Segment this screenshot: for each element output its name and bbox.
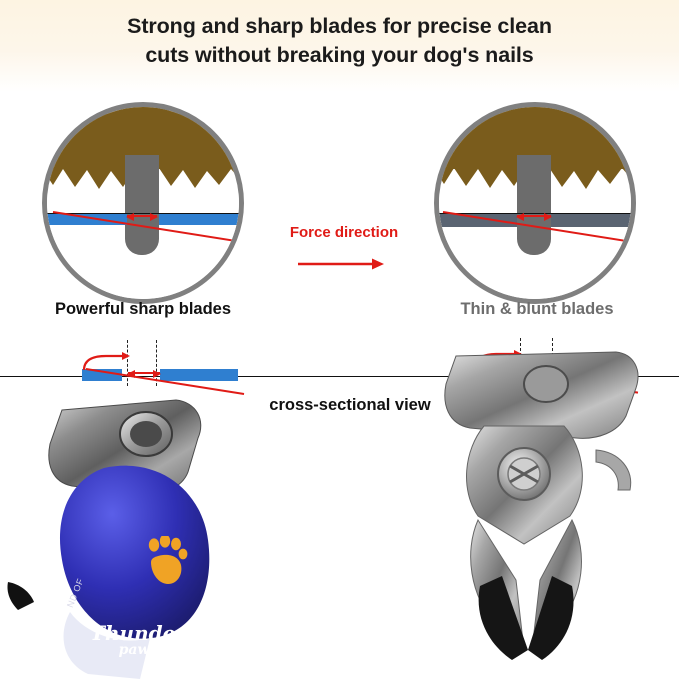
magnifier-left: [42, 102, 244, 304]
caption-left: Powerful sharp blades: [10, 300, 276, 319]
brand-subname: paws: [70, 642, 206, 658]
mid-hook-arrow-left-icon: [82, 352, 130, 372]
nail-quick-left: [125, 155, 159, 255]
blade-blue-left-a: [42, 213, 127, 225]
paw-print-icon: [145, 536, 189, 586]
caption-right: Thin & blunt blades: [404, 300, 670, 319]
mid-gap-arrow-left: [128, 372, 160, 374]
magnifier-right: [434, 102, 636, 304]
page-title-line-2: cuts without breaking your dog's nails: [0, 41, 679, 70]
page-title: Strong and sharp blades for precise clea…: [0, 12, 679, 69]
force-direction-label: Force direction: [264, 224, 424, 241]
blade-blue-left-b: [159, 213, 244, 225]
clipper-right-illustration: [420, 330, 679, 679]
product-infographic: Strong and sharp blades for precise clea…: [0, 0, 679, 679]
product-photo-left: Thunder paws ND OF: [0, 376, 340, 679]
blade-steel-right-b: [551, 213, 636, 227]
blade-gap-arrow-right: [517, 215, 551, 217]
page-title-line-1: Strong and sharp blades for precise clea…: [0, 12, 679, 41]
product-photo-right: [420, 330, 679, 679]
blade-gap-arrow-left: [127, 215, 157, 217]
nail-quick-right: [517, 155, 551, 255]
force-arrow-icon: [298, 257, 384, 271]
